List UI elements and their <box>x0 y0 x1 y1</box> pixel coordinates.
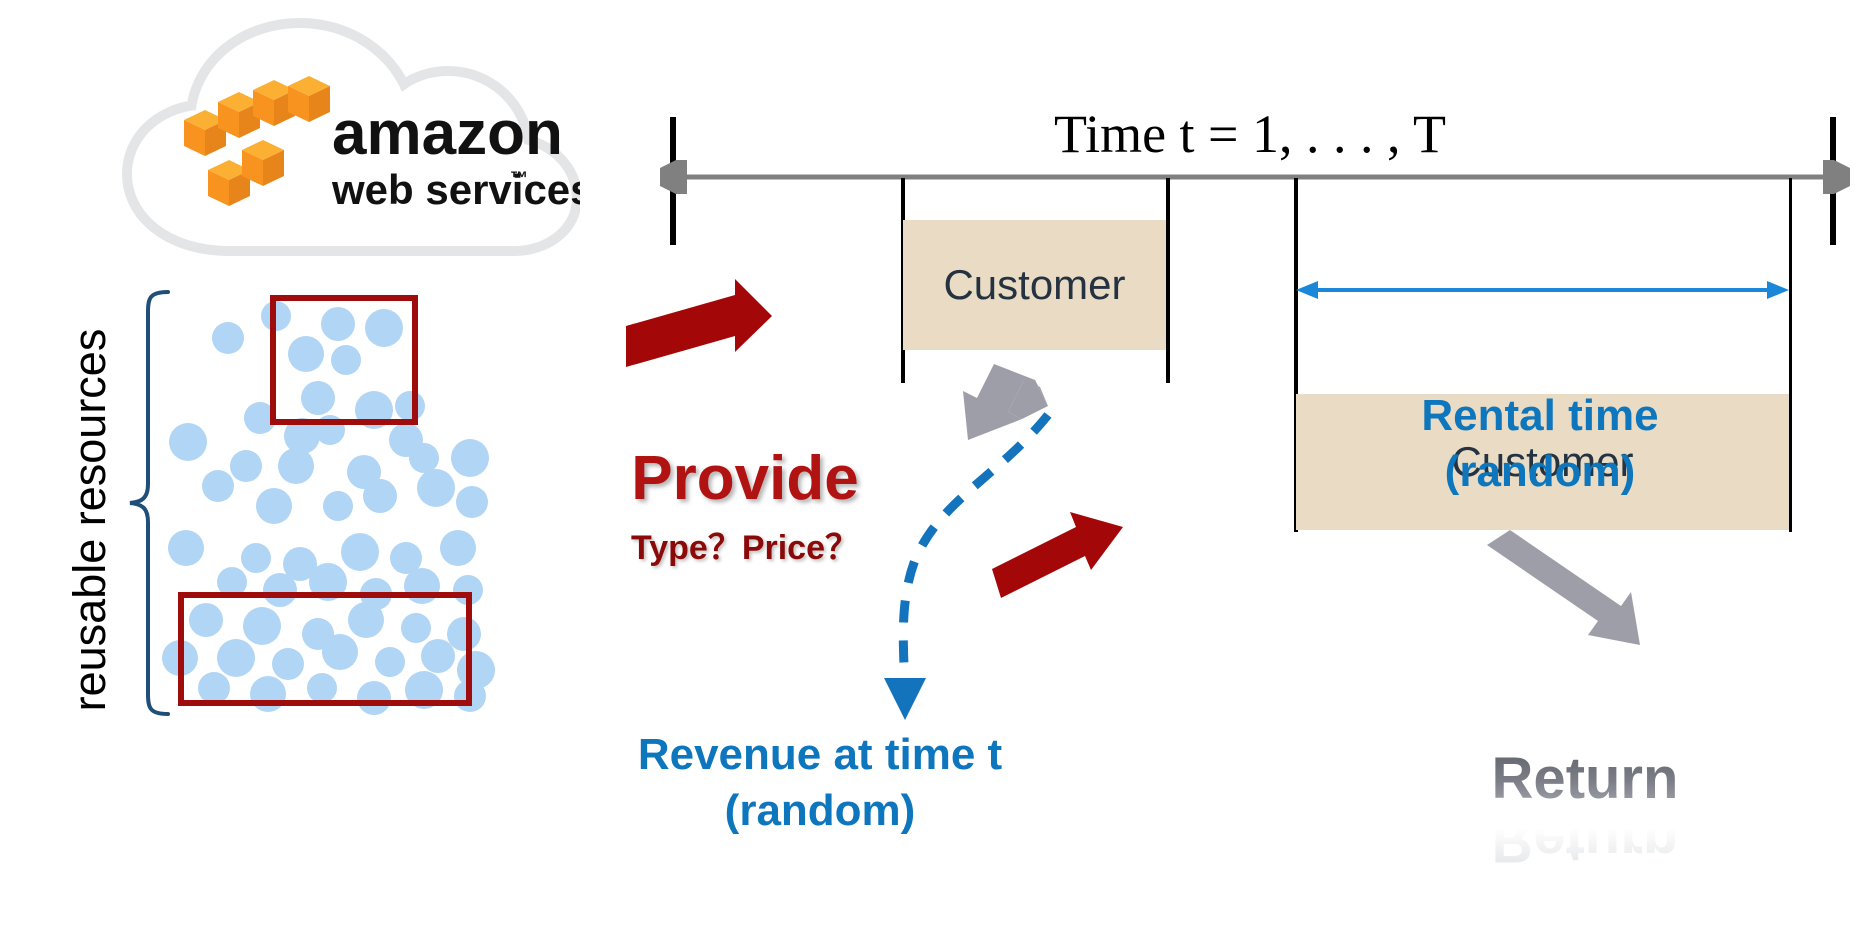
resource-dot <box>168 530 204 566</box>
reusable-resources-label: reusable resources <box>60 285 120 755</box>
provide-arrow-second <box>992 512 1123 598</box>
resource-dot <box>451 439 489 477</box>
aws-cloud-logo: amazon web services ™ <box>110 18 580 268</box>
aws-logo-svg: amazon web services ™ <box>110 18 580 268</box>
resource-dot <box>440 530 476 566</box>
resource-dot <box>230 450 262 482</box>
provide-arrow-first <box>626 279 772 367</box>
revenue-flow-curve <box>903 415 1048 690</box>
customer-label: Customer <box>943 261 1125 309</box>
customer-box-first[interactable]: Customer <box>903 220 1166 350</box>
aws-trademark: ™ <box>510 168 528 188</box>
timeline-axis <box>660 160 1850 194</box>
timeline-divider-4 <box>1789 178 1792 532</box>
resource-selection-top[interactable] <box>270 295 418 425</box>
revenue-arrowhead <box>884 678 926 720</box>
return-label-reflection: Return <box>1420 808 1750 875</box>
resource-dot <box>341 533 379 571</box>
resource-dot <box>278 448 314 484</box>
resource-selection-bottom[interactable] <box>178 592 472 706</box>
resource-dot <box>202 470 234 502</box>
revenue-label-line1: Revenue at time t <box>540 727 1100 783</box>
return-label-group: Return Return <box>1420 745 1750 895</box>
resource-dot <box>363 479 397 513</box>
rental-label-line1: Rental time <box>1320 388 1760 444</box>
rental-time-label: Rental time (random) <box>1320 388 1760 500</box>
aws-wordmark-webservices: web services <box>331 166 580 213</box>
diagram-canvas: amazon web services ™ reusable resources… <box>0 0 1858 930</box>
provide-label: Provide <box>575 443 915 514</box>
resource-dot <box>241 543 271 573</box>
rental-label-line2: (random) <box>1320 444 1760 500</box>
resource-dot <box>256 488 292 524</box>
resource-dot <box>456 486 488 518</box>
resource-dot <box>212 322 244 354</box>
timeline-title: Time t = 1, . . . , T <box>700 103 1800 165</box>
revenue-label-line2: (random) <box>540 783 1100 839</box>
timeline-divider-2 <box>1166 178 1170 383</box>
resource-dot <box>323 491 353 521</box>
return-label: Return <box>1420 745 1750 812</box>
return-arrow-second <box>1487 530 1640 645</box>
resource-dot <box>417 469 455 507</box>
rental-time-arrow <box>1296 281 1789 299</box>
resource-dot <box>169 423 207 461</box>
return-arrow-first <box>963 364 1048 440</box>
aws-wordmark-amazon: amazon <box>332 99 563 168</box>
type-price-label: Type？Price？ <box>575 520 915 569</box>
revenue-label: Revenue at time t (random) <box>540 727 1100 839</box>
